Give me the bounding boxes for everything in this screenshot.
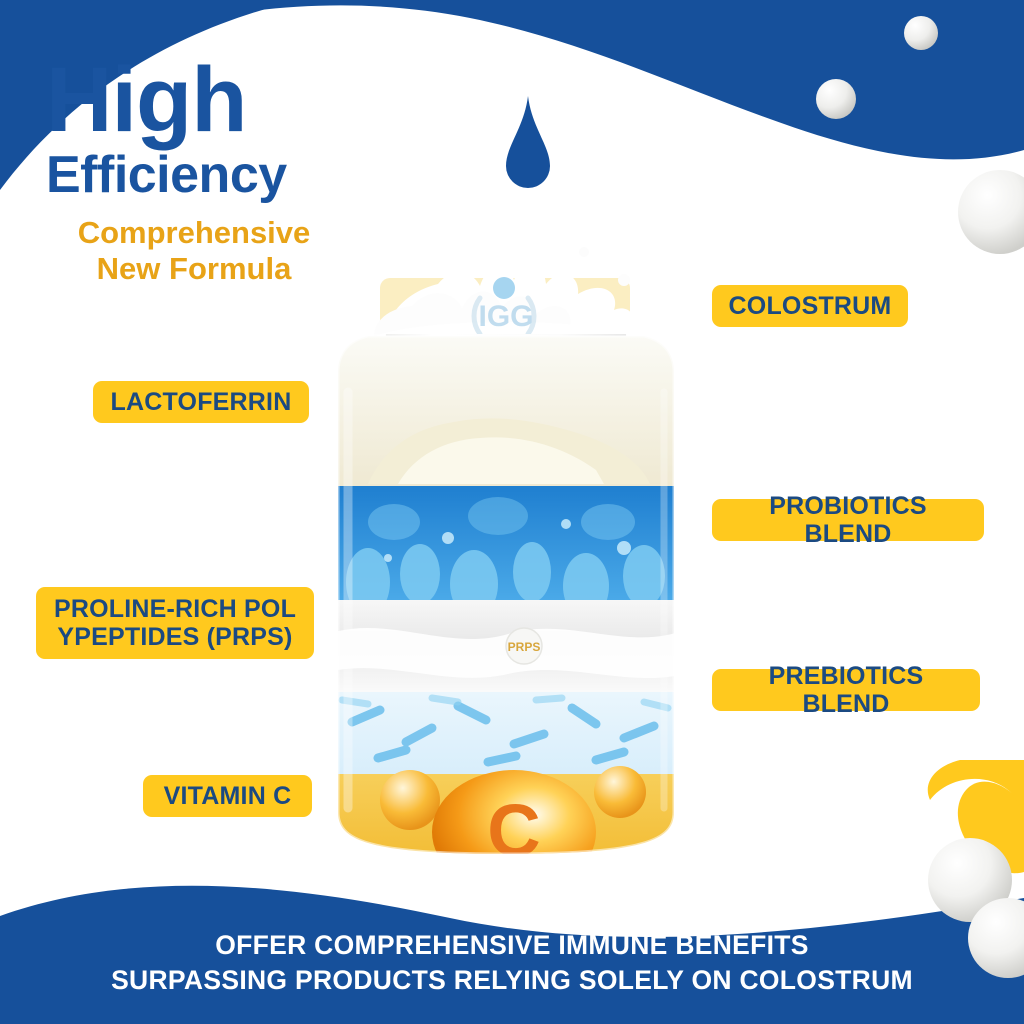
banner-line-2: SURPASSING PRODUCTS RELYING SOLELY ON CO… [0,963,1024,998]
badge-lactoferrin[interactable]: LACTOFERRIN [93,381,309,423]
bottom-banner: OFFER COMPREHENSIVE IMMUNE BENEFITS SURP… [0,928,1024,998]
badge-prps-label: PROLINE-RICH POL YPEPTIDES (PRPS) [54,595,296,651]
badge-colostrum[interactable]: COLOSTRUM [712,285,908,327]
tagline-line-1: Comprehensive [46,215,342,252]
badge-probiotics-label: PROBIOTICS BLEND [728,492,968,548]
igg-logo-text: IGG [478,300,533,333]
badge-lactoferrin-label: LACTOFERRIN [111,388,292,416]
badge-prebiotics-label: PREBIOTICS BLEND [728,662,964,718]
badge-probiotics-blend[interactable]: PROBIOTICS BLEND [712,499,984,541]
banner-line-1: OFFER COMPREHENSIVE IMMUNE BENEFITS [0,928,1024,963]
sphere-decoration [816,79,856,119]
badge-prebiotics-blend[interactable]: PREBIOTICS BLEND [712,669,980,711]
badge-prps-label-line-2: YPEPTIDES (PRPS) [57,623,292,651]
badge-vitaminc-label: VITAMIN C [164,782,292,810]
tagline: Comprehensive New Formula [46,215,342,288]
badge-prps-label-line-1: PROLINE-RICH POL [54,595,296,623]
badge-vitamin-c[interactable]: VITAMIN C [143,775,312,817]
badge-proline-rich-polypeptides[interactable]: PROLINE-RICH POL YPEPTIDES (PRPS) [36,587,314,659]
headline-primary: High [46,58,476,143]
sphere-decoration [958,170,1024,254]
vitamin-c-letter: C [487,789,540,862]
bottle-content-bands: PRPS [328,336,684,862]
tagline-line-2: New Formula [46,251,342,288]
prps-pill-text: PRPS [508,640,541,654]
promo-poster: High Efficiency Comprehensive New Formul… [0,0,1024,1024]
headline-secondary: Efficiency [46,149,476,201]
sphere-decoration [928,838,1012,922]
product-bottle-image: IGG [328,222,684,862]
sphere-decoration [904,16,938,50]
badge-colostrum-label: COLOSTRUM [729,292,892,320]
